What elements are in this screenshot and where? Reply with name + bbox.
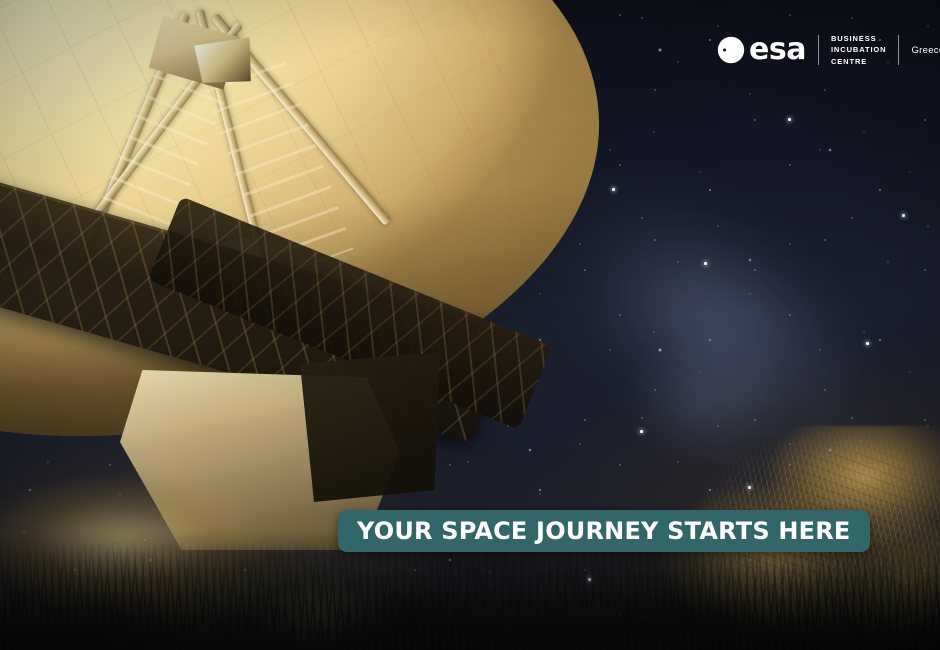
bic-country-label: Greece: [911, 45, 940, 56]
headline-banner[interactable]: YOUR SPACE JOURNEY STARTS HERE: [338, 510, 870, 552]
bic-line-2: INCUBATION: [831, 44, 887, 56]
foreground-shrubs-texture: [0, 540, 940, 650]
dish-feed-detail: [194, 37, 254, 87]
bic-line-3: CENTRE: [831, 56, 887, 68]
bic-programme-name: BUSINESS INCUBATION CENTRE: [831, 33, 887, 68]
headline-text: YOUR SPACE JOURNEY STARTS HERE: [357, 519, 851, 543]
esa-wordmark: esa: [749, 35, 806, 65]
dish-pedestal-shadow: [300, 352, 440, 502]
logo-divider: [898, 35, 899, 65]
logo-divider: [818, 35, 819, 65]
bic-line-1: BUSINESS: [831, 33, 887, 45]
hero-banner: esa BUSINESS INCUBATION CENTRE Greece YO…: [0, 0, 940, 650]
esa-logo-mark[interactable]: esa: [714, 33, 806, 67]
esa-bic-logo-lockup[interactable]: esa BUSINESS INCUBATION CENTRE Greece: [714, 30, 940, 70]
